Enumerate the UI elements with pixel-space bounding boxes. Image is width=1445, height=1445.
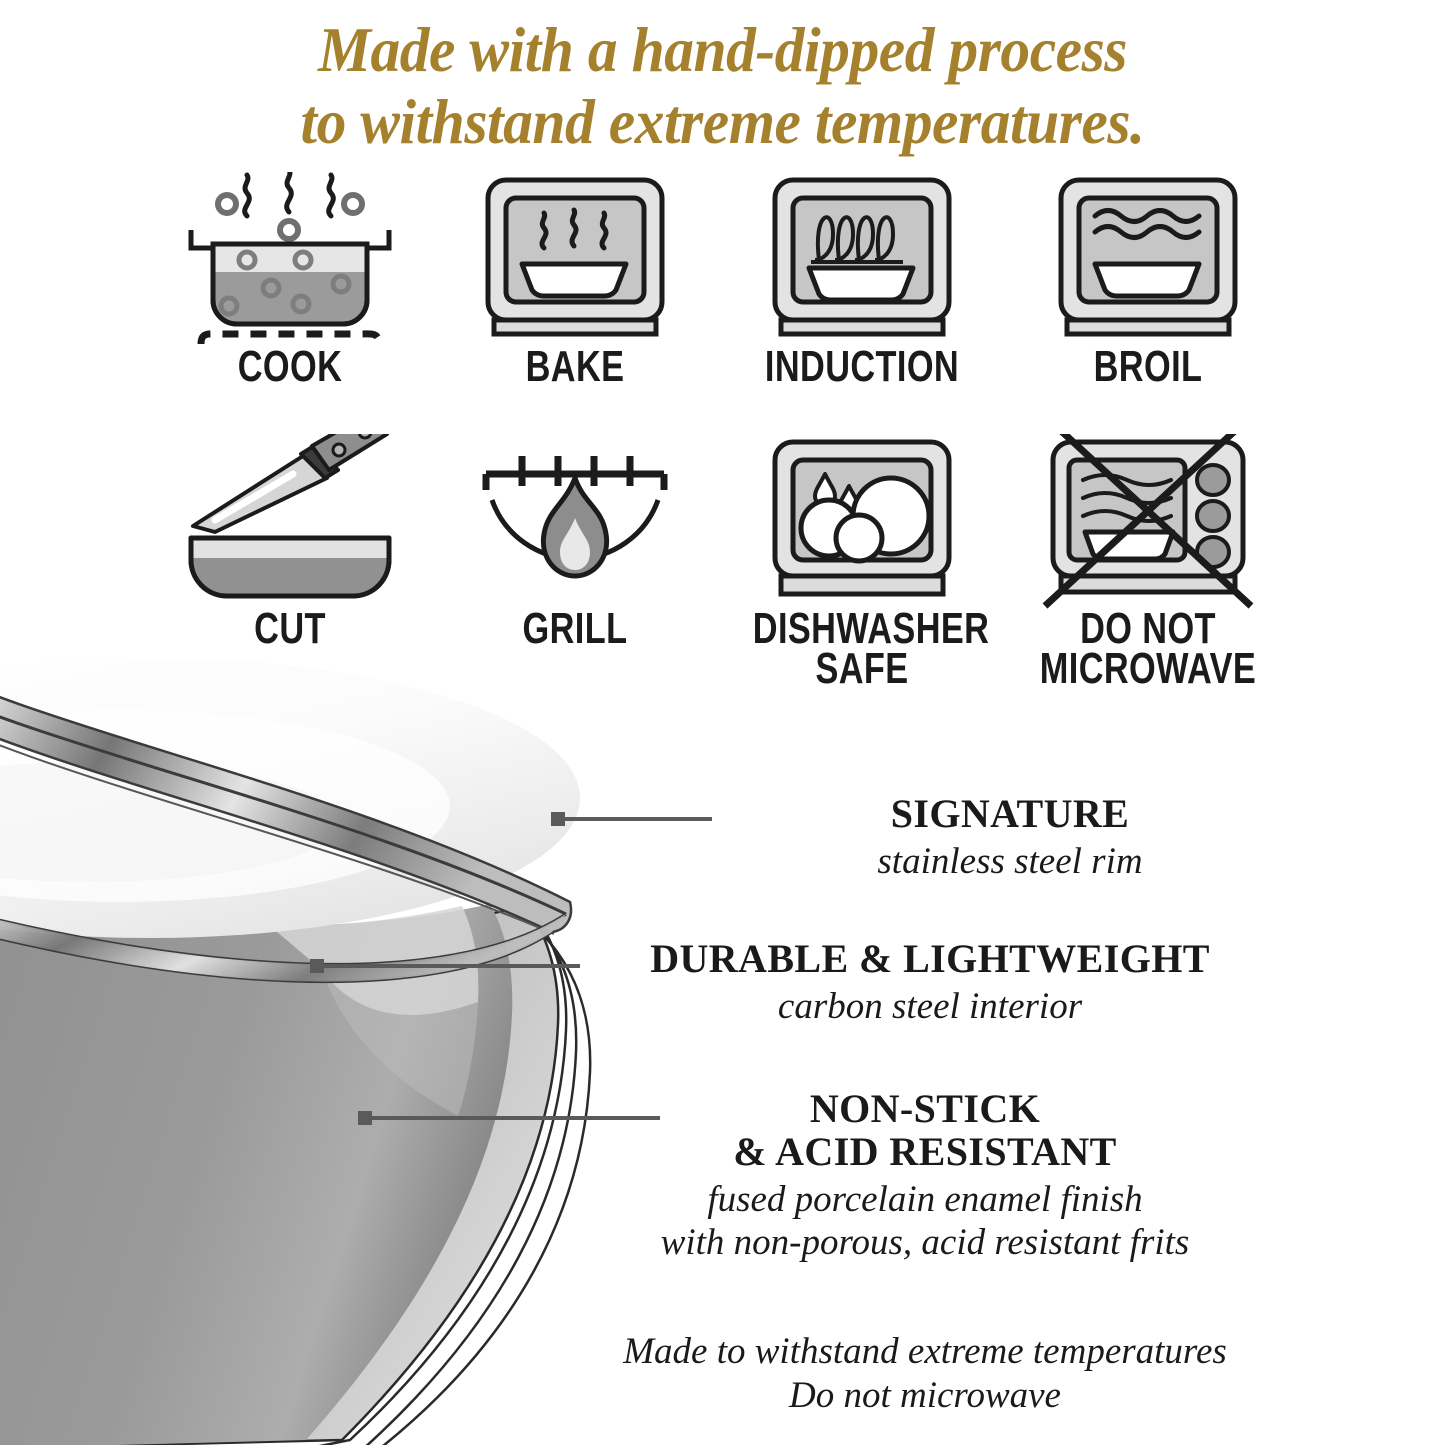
callout-signature: SIGNATURE stainless steel rim xyxy=(700,793,1320,883)
icon-cell-do-not-microwave: DO NOT MICROWAVE xyxy=(1008,434,1288,690)
callout-durable-title: DURABLE & LIGHTWEIGHT xyxy=(580,938,1280,981)
callout-nonstick-subtitle: fused porcelain enamel finish with non-p… xyxy=(560,1178,1290,1265)
icon-label-do-not-microwave: DO NOT MICROWAVE xyxy=(1039,609,1257,690)
headline-line-2: to withstand extreme temperatures. xyxy=(51,86,1395,158)
footnote-line-2: Do not microwave xyxy=(560,1374,1290,1418)
icon-label-cook: COOK xyxy=(181,347,399,387)
icon-cell-induction: INDUCTION xyxy=(722,172,1002,387)
icon-label-bake: BAKE xyxy=(466,347,684,387)
footnote: Made to withstand extreme temperatures D… xyxy=(560,1330,1290,1417)
icon-label-dishwasher-safe: DISHWASHER SAFE xyxy=(753,609,971,690)
grill-icon xyxy=(435,434,715,609)
do-not-microwave-icon xyxy=(1008,434,1288,609)
dishwasher-safe-icon xyxy=(722,434,1002,609)
icon-cell-dishwasher-safe: DISHWASHER SAFE xyxy=(722,434,1002,690)
icon-cell-broil: BROIL xyxy=(1008,172,1288,387)
footnote-line-1: Made to withstand extreme temperatures xyxy=(560,1330,1290,1374)
product-infographic: Made with a hand-dipped process to withs… xyxy=(0,0,1445,1445)
page-title: Made with a hand-dipped process to withs… xyxy=(51,14,1395,159)
induction-icon xyxy=(722,172,1002,347)
bake-icon xyxy=(435,172,715,347)
callout-durable-subtitle: carbon steel interior xyxy=(580,985,1280,1029)
headline-line-1: Made with a hand-dipped process xyxy=(51,14,1395,86)
cook-icon xyxy=(150,172,430,347)
callout-nonstick: NON-STICK & ACID RESISTANT fused porcela… xyxy=(560,1088,1290,1265)
cut-icon xyxy=(150,434,430,609)
callout-signature-title: SIGNATURE xyxy=(700,793,1320,836)
callout-nonstick-title: NON-STICK & ACID RESISTANT xyxy=(560,1088,1290,1174)
broil-icon xyxy=(1008,172,1288,347)
callout-durable: DURABLE & LIGHTWEIGHT carbon steel inter… xyxy=(580,938,1280,1028)
callout-signature-subtitle: stainless steel rim xyxy=(700,840,1320,884)
icon-label-broil: BROIL xyxy=(1039,347,1257,387)
icon-cell-cook: COOK xyxy=(150,172,430,387)
icon-label-induction: INDUCTION xyxy=(753,347,971,387)
icon-cell-bake: BAKE xyxy=(435,172,715,387)
